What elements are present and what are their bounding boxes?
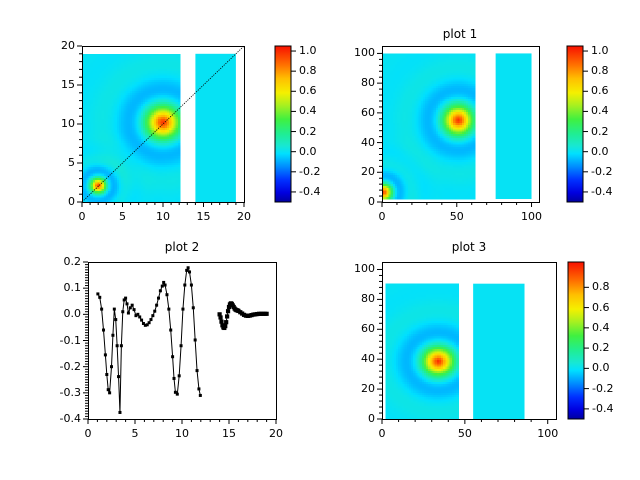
y-tick-label: 60: [333, 106, 375, 119]
y-tick-label: 0: [333, 195, 375, 208]
x-tick-label: 0: [360, 427, 404, 440]
y-tick-label: 100: [333, 46, 375, 59]
colorbar-tick-label: -0.2: [591, 165, 637, 178]
x-tick-label: 20: [222, 210, 266, 223]
x-tick-label: 5: [101, 210, 145, 223]
colorbar-tick-label: 0.6: [592, 301, 638, 314]
x-tick-label: 50: [443, 427, 487, 440]
x-tick-label: 50: [435, 210, 479, 223]
y-tick-label: -0.2: [39, 360, 81, 373]
y-tick-label: 0: [33, 195, 75, 208]
colorbar-tick-label: -0.4: [592, 402, 638, 415]
y-tick-label: 20: [333, 165, 375, 178]
x-tick-label: 100: [510, 210, 554, 223]
y-tick-label: 80: [333, 76, 375, 89]
y-tick-label: 5: [33, 156, 75, 169]
subplot-title: plot 1: [390, 27, 530, 41]
colorbar-tick-label: 0.6: [591, 84, 637, 97]
y-tick-label: 15: [33, 78, 75, 91]
colorbar-tick-label: 0.4: [592, 321, 638, 334]
x-tick-label: 0: [360, 210, 404, 223]
y-tick-label: 60: [333, 322, 375, 335]
y-tick-label: 0.0: [39, 307, 81, 320]
x-tick-label: 15: [207, 427, 251, 440]
x-tick-label: 5: [113, 427, 157, 440]
y-tick-label: -0.3: [39, 386, 81, 399]
y-tick-label: 0: [333, 412, 375, 425]
x-tick-label: 0: [60, 210, 104, 223]
colorbar-tick-label: 0.2: [592, 341, 638, 354]
x-tick-label: 20: [254, 427, 298, 440]
y-tick-label: -0.4: [39, 412, 81, 425]
y-tick-label: 0.2: [39, 255, 81, 268]
colorbar-tick-label: 0.0: [591, 145, 637, 158]
figure-text-layer: 05101520051015201.00.80.60.40.20.0-0.2-0…: [0, 0, 640, 480]
y-tick-label: 20: [333, 382, 375, 395]
x-tick-label: 100: [526, 427, 570, 440]
y-tick-label: -0.1: [39, 334, 81, 347]
y-tick-label: 40: [333, 136, 375, 149]
x-tick-label: 15: [182, 210, 226, 223]
colorbar-tick-label: 0.2: [591, 125, 637, 138]
colorbar-tick-label: -0.4: [591, 185, 637, 198]
y-tick-label: 20: [33, 39, 75, 52]
y-tick-label: 10: [33, 117, 75, 130]
x-tick-label: 10: [160, 427, 204, 440]
y-tick-label: 0.1: [39, 281, 81, 294]
y-tick-label: 80: [333, 292, 375, 305]
colorbar-tick-label: 0.0: [592, 361, 638, 374]
subplot-title: plot 3: [399, 240, 539, 254]
colorbar-tick-label: 0.8: [592, 280, 638, 293]
x-tick-label: 0: [66, 427, 110, 440]
colorbar-tick-label: 0.4: [591, 104, 637, 117]
y-tick-label: 100: [333, 262, 375, 275]
colorbar-tick-label: 1.0: [591, 44, 637, 57]
colorbar-tick-label: -0.2: [592, 382, 638, 395]
x-tick-label: 10: [141, 210, 185, 223]
colorbar-tick-label: 0.8: [591, 64, 637, 77]
subplot-title: plot 2: [112, 240, 252, 254]
y-tick-label: 40: [333, 352, 375, 365]
